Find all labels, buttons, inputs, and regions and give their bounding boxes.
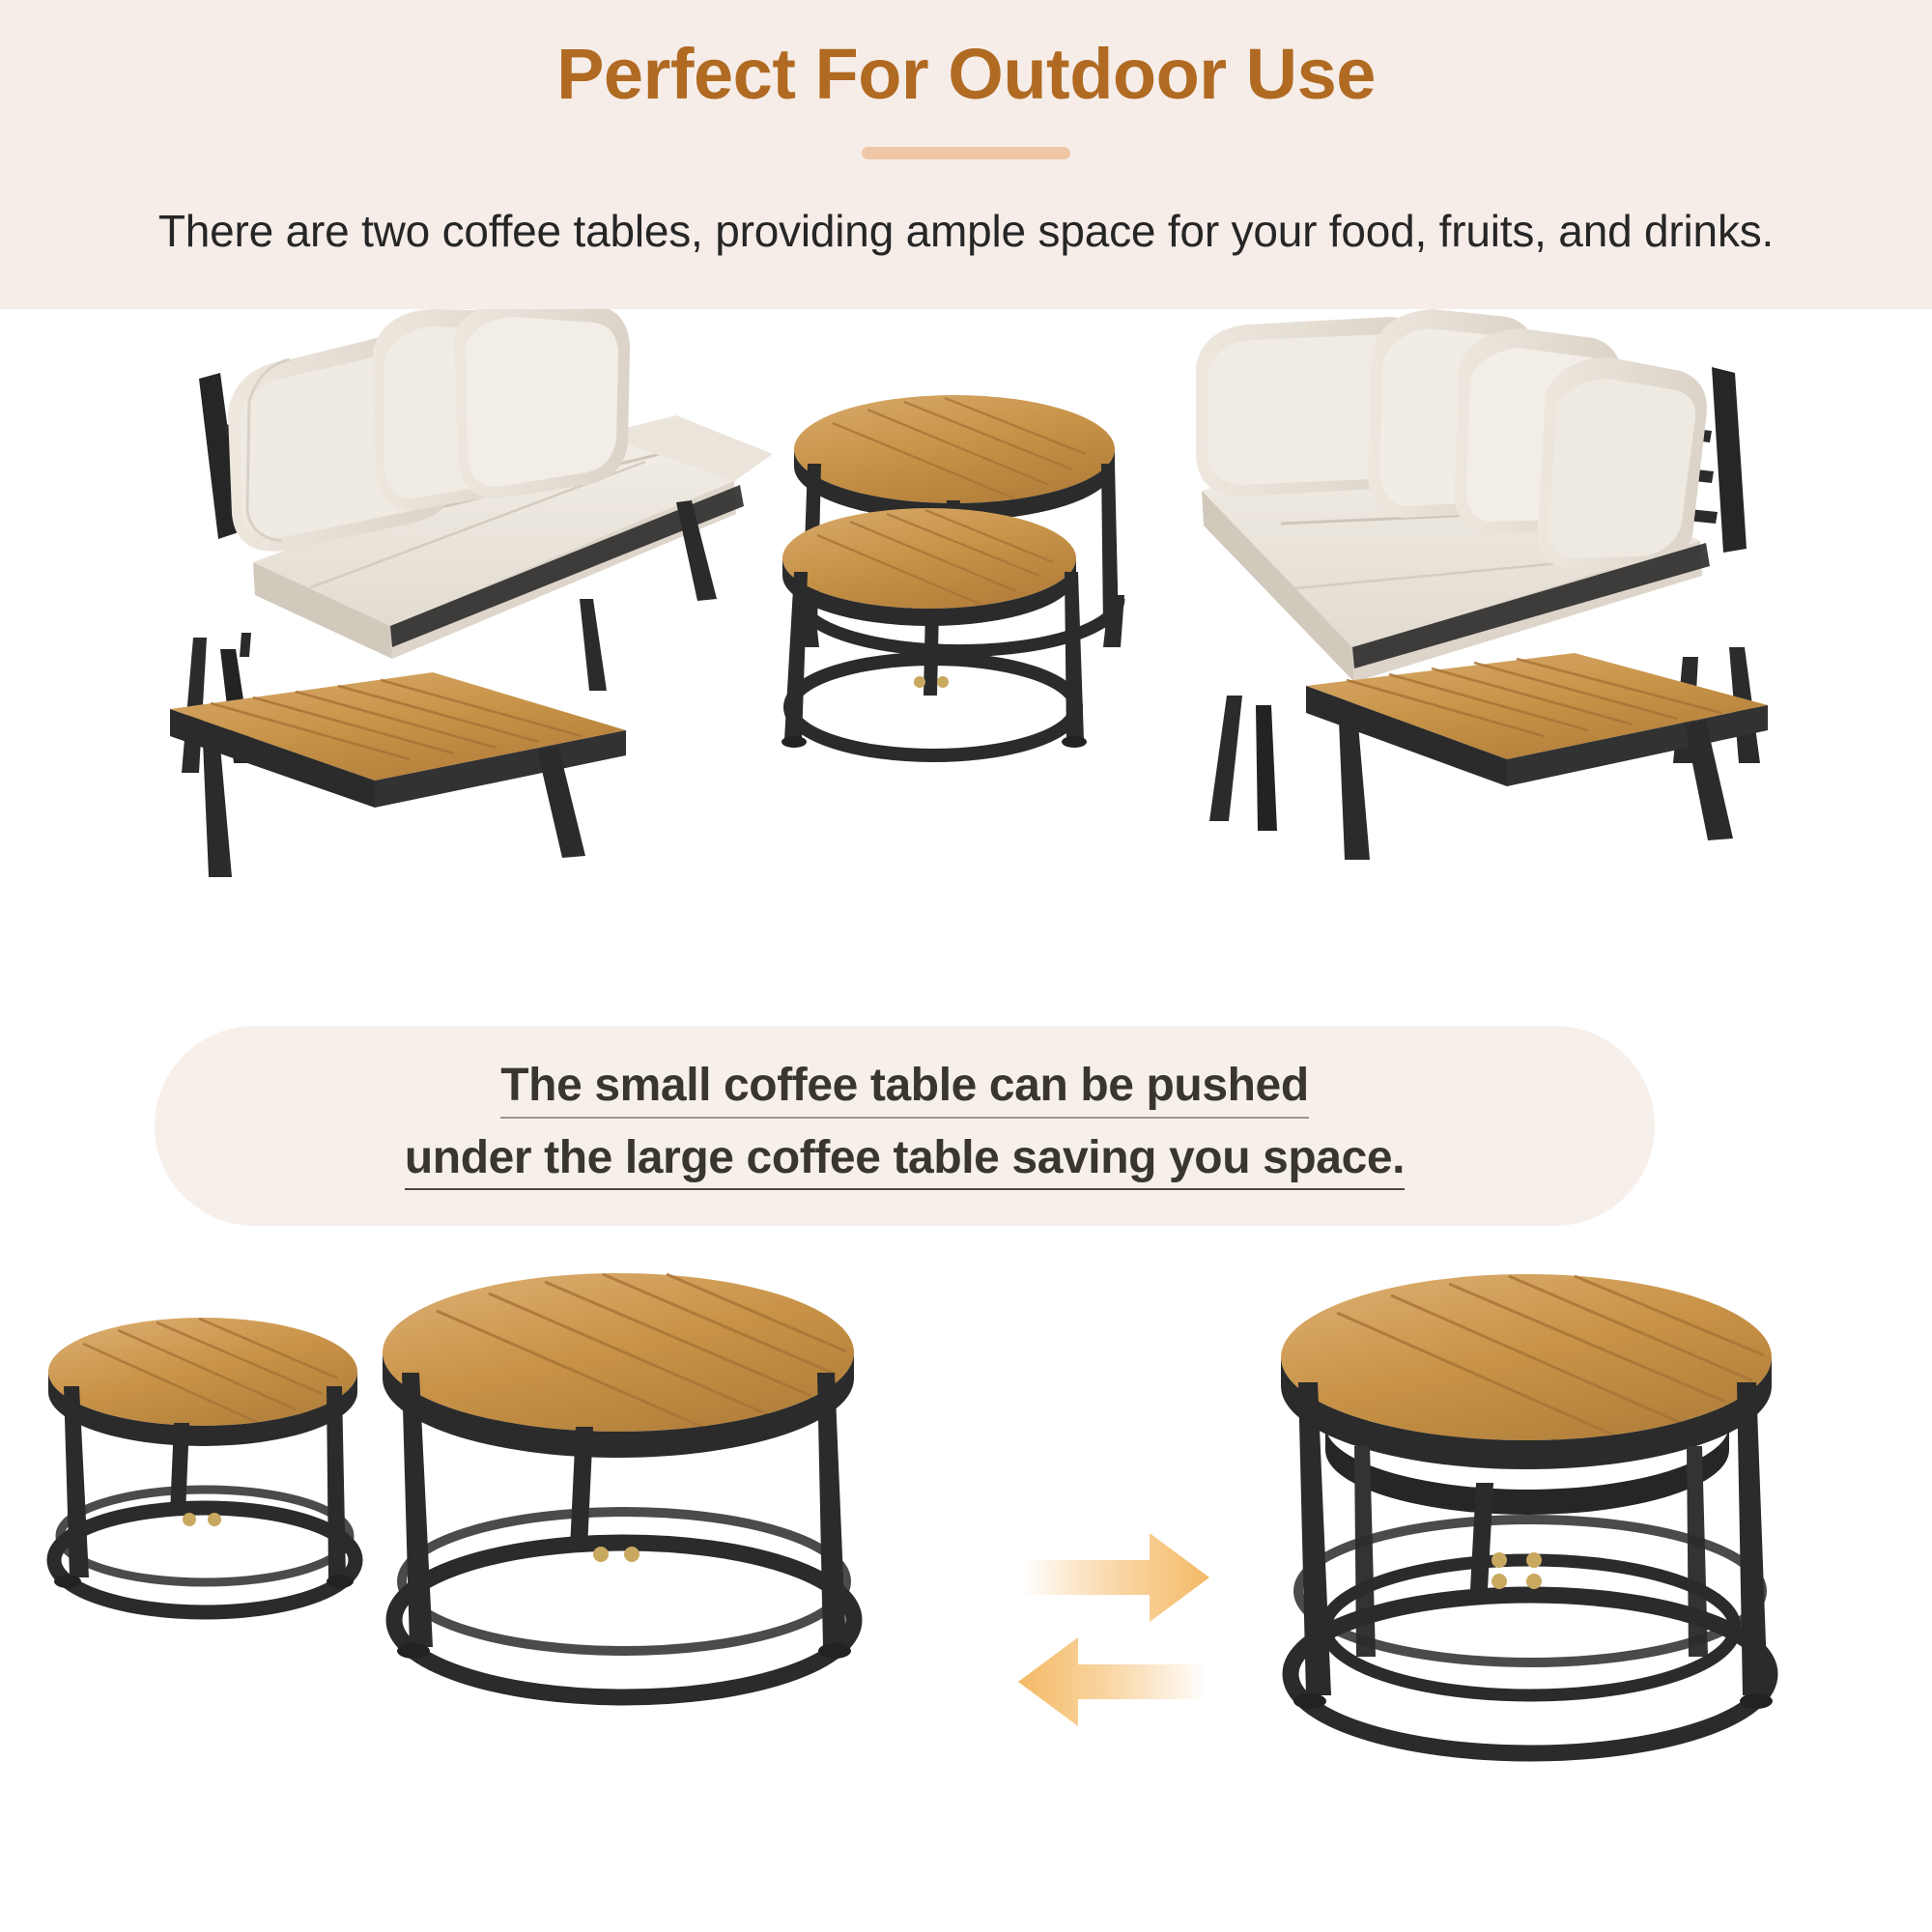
page-subtitle: There are two coffee tables, providing a… — [0, 205, 1932, 257]
large-coffee-table-separate — [383, 1273, 854, 1697]
sofas-illustration — [0, 309, 1932, 1024]
left-sofa — [170, 309, 773, 877]
small-coffee-table-separate — [48, 1318, 357, 1612]
callout-line-2: under the large coffee table saving you … — [405, 1134, 1405, 1191]
callout-box: The small coffee table can be pushed und… — [155, 1026, 1655, 1226]
title-divider — [862, 147, 1070, 159]
right-sofa — [1196, 309, 1768, 860]
arrow-left-icon — [1018, 1637, 1206, 1726]
product-scene-nesting-demo — [0, 1241, 1932, 1932]
nesting-coffee-tables-top — [781, 395, 1124, 755]
product-scene-sofas — [0, 309, 1932, 1024]
header-band: Perfect For Outdoor Use There are two co… — [0, 0, 1932, 309]
page-title: Perfect For Outdoor Use — [0, 35, 1932, 115]
coffee-tables-nested — [1281, 1274, 1773, 1753]
arrow-right-icon — [1022, 1533, 1209, 1622]
callout-line-1: The small coffee table can be pushed — [500, 1062, 1309, 1119]
nesting-demo-illustration — [0, 1241, 1932, 1932]
